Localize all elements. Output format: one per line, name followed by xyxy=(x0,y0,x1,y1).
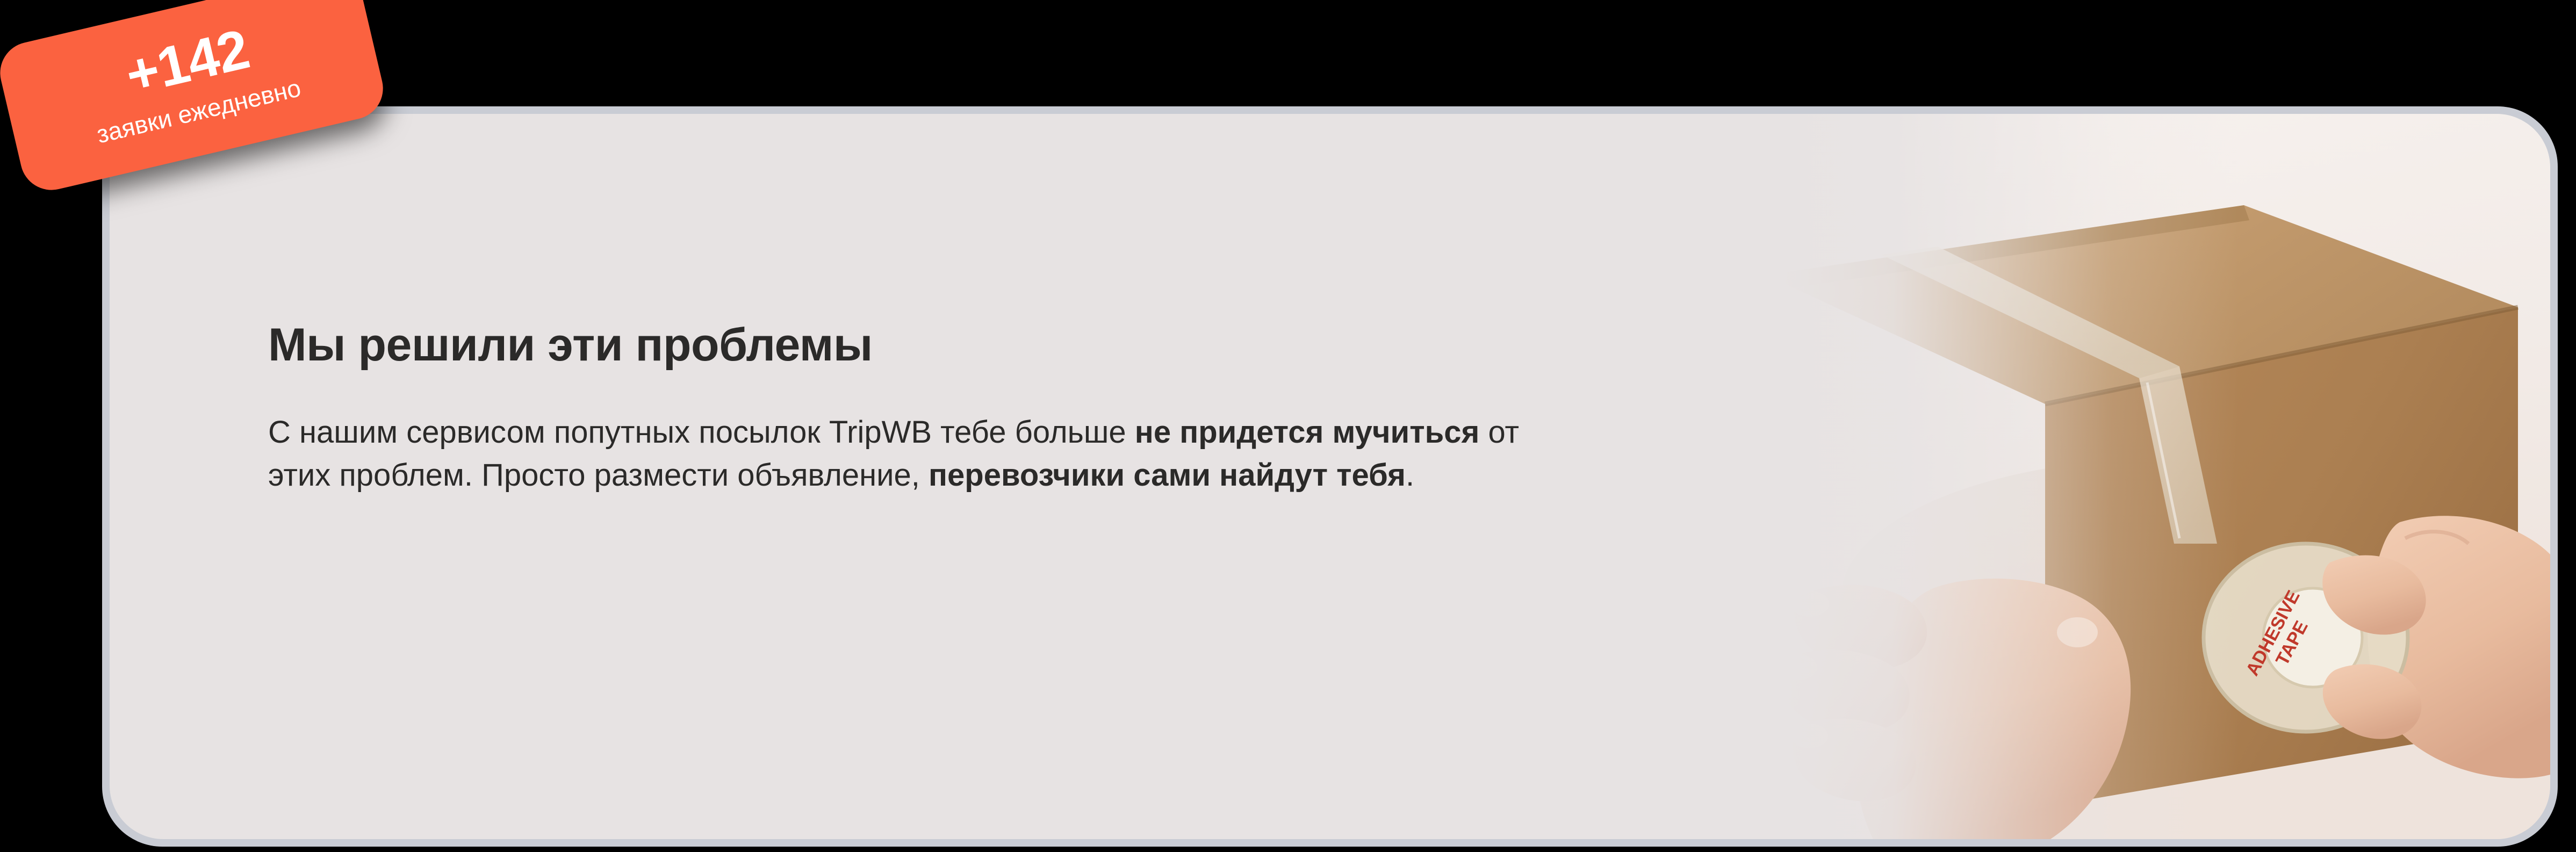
package-photo: ADHESIVE TAPE xyxy=(1637,114,2550,839)
description-part-1: С нашим сервисом попутных посылок TripWB… xyxy=(268,415,1135,450)
promo-card: ADHESIVE TAPE xyxy=(102,106,2558,847)
page-title: Мы решили эти проблемы xyxy=(268,321,1585,369)
description-bold-1: не придется мучиться xyxy=(1135,415,1480,450)
package-photo-illustration: ADHESIVE TAPE xyxy=(1637,114,2550,839)
description-bold-2: перевозчики сами найдут тебя xyxy=(929,458,1406,493)
promo-card-surface: ADHESIVE TAPE xyxy=(110,114,2550,839)
card-description: С нашим сервисом попутных посылок TripWB… xyxy=(268,411,1585,497)
description-part-3: . xyxy=(1406,458,1414,493)
card-text-block: Мы решили эти проблемы С нашим сервисом … xyxy=(268,321,1585,497)
screenshot-stage: ADHESIVE TAPE xyxy=(0,0,2576,852)
